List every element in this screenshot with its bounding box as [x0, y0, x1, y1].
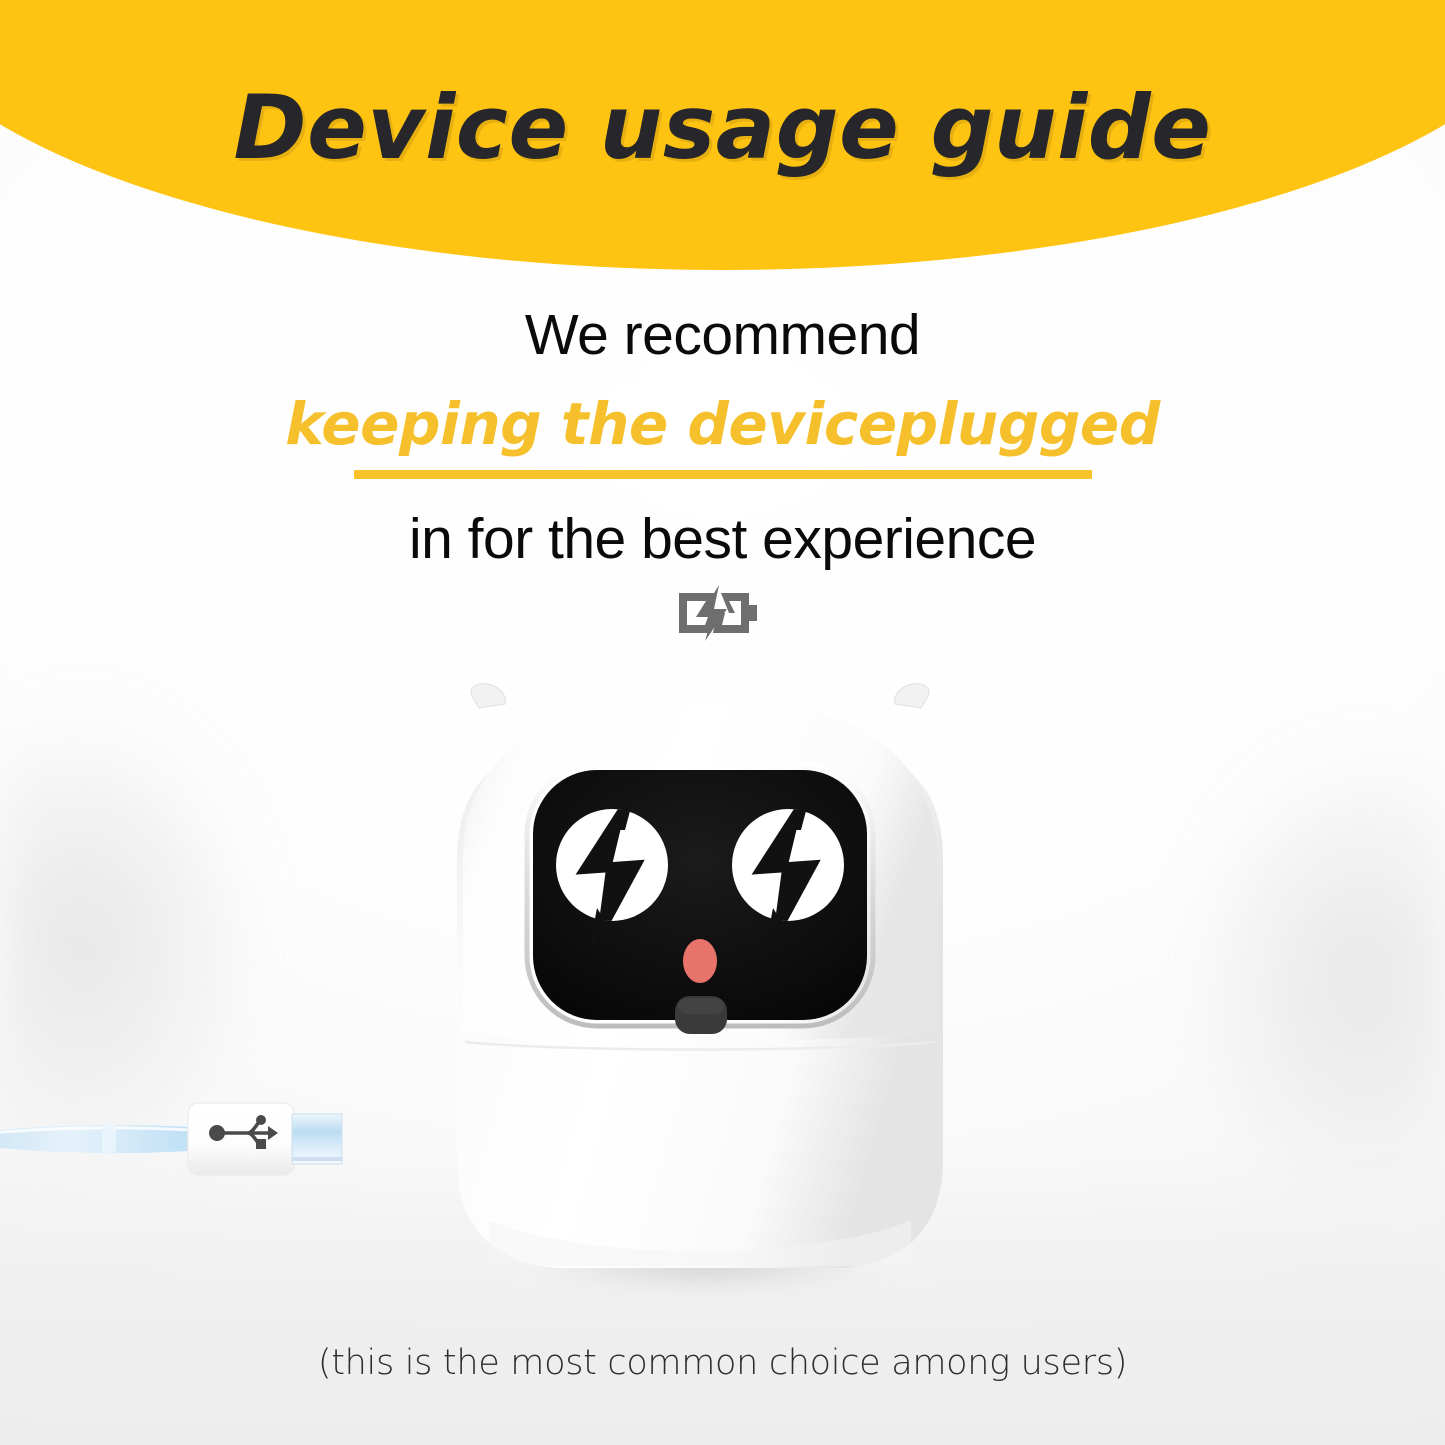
device-power-button-highlight — [678, 998, 724, 1014]
copy-line-secondary: in for the best experience — [0, 504, 1445, 574]
usb-connector-tip — [292, 1114, 342, 1164]
copy-emphasis-text: keeping the deviceplugged — [285, 390, 1159, 458]
usb-a-charging-cable — [0, 1075, 420, 1205]
copy-line-primary: We recommend — [525, 303, 920, 367]
footer-caption: (this is the most common choice among us… — [0, 1343, 1445, 1383]
usb-connector-tip-edge — [292, 1157, 342, 1161]
background-vignette-right — [1025, 640, 1445, 1200]
usb-connector-housing — [188, 1103, 294, 1175]
cable-strain-relief — [102, 1122, 116, 1154]
usage-guide-page: Device usage guide We recommend keeping … — [0, 0, 1445, 1445]
mini-printer-device — [449, 660, 951, 1280]
battery-charging-icon — [675, 583, 771, 643]
recommendation-copy: We recommend keeping the deviceplugged i… — [0, 300, 1445, 574]
copy-emphasis-underline — [354, 470, 1092, 479]
device-nose-indicator — [683, 939, 717, 983]
copy-emphasis-wrapper: keeping the deviceplugged — [0, 392, 1445, 484]
page-title: Device usage guide — [0, 84, 1445, 172]
paper-ear-tabs — [471, 684, 929, 708]
